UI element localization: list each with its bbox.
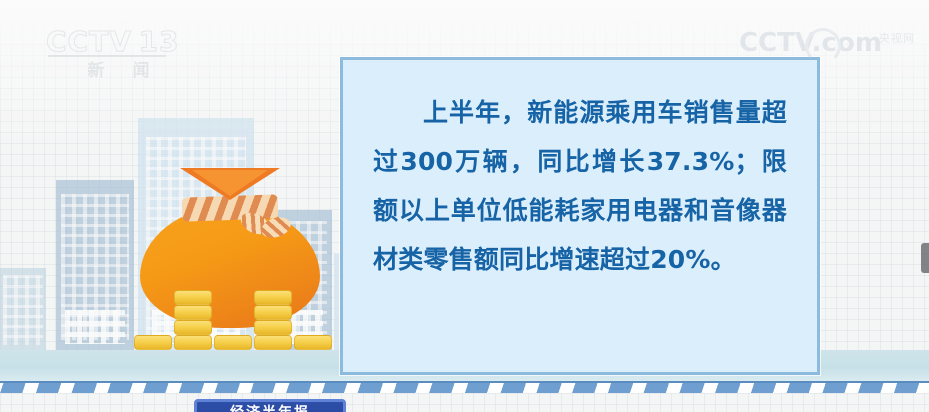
building-window-block <box>65 310 124 344</box>
cctv-com-watermark: CCTV.com 央视网 <box>739 28 919 80</box>
gold-coin <box>174 320 212 335</box>
lower-third-text: 经济半年报 <box>197 402 343 412</box>
gold-coin-stacks <box>134 288 344 352</box>
gold-coin <box>174 290 212 305</box>
cctv-wordmark: CCTV 13 <box>46 26 196 58</box>
caption-text: 上半年，新能源乘用车销售量超过300万辆，同比增长37.3%；限额以上单位低能耗… <box>373 88 787 284</box>
broadcast-frame: 上半年，新能源乘用车销售量超过300万辆，同比增长37.3%；限额以上单位低能耗… <box>0 0 929 412</box>
gold-coin <box>174 305 212 320</box>
cctv-subtitle: 新 闻 <box>46 59 196 83</box>
building-windows <box>3 275 43 346</box>
gold-coin <box>214 335 252 350</box>
gold-coin <box>254 290 292 305</box>
gold-coin <box>254 320 292 335</box>
gold-coin <box>254 305 292 320</box>
building <box>0 268 46 350</box>
watermark-cn-label: 央视网 <box>879 30 915 46</box>
cctv13-channel-bug: CCTV 13 新 闻 <box>46 26 196 92</box>
gold-coin <box>174 335 212 350</box>
gold-coin <box>294 335 332 350</box>
money-bag-funnel-inner <box>192 170 268 196</box>
lower-third-banner: 经济半年报 <box>194 399 346 412</box>
watermark-ring-icon <box>805 28 841 64</box>
road-base-strip <box>0 393 929 412</box>
caption-panel: 上半年，新能源乘用车销售量超过300万辆，同比增长37.3%；限额以上单位低能耗… <box>340 57 820 375</box>
right-edge-chip <box>921 243 929 273</box>
caption-panel-inner: 上半年，新能源乘用车销售量超过300万辆，同比增长37.3%；限额以上单位低能耗… <box>343 60 817 284</box>
gold-coin <box>134 335 172 350</box>
gold-coin <box>254 335 292 350</box>
